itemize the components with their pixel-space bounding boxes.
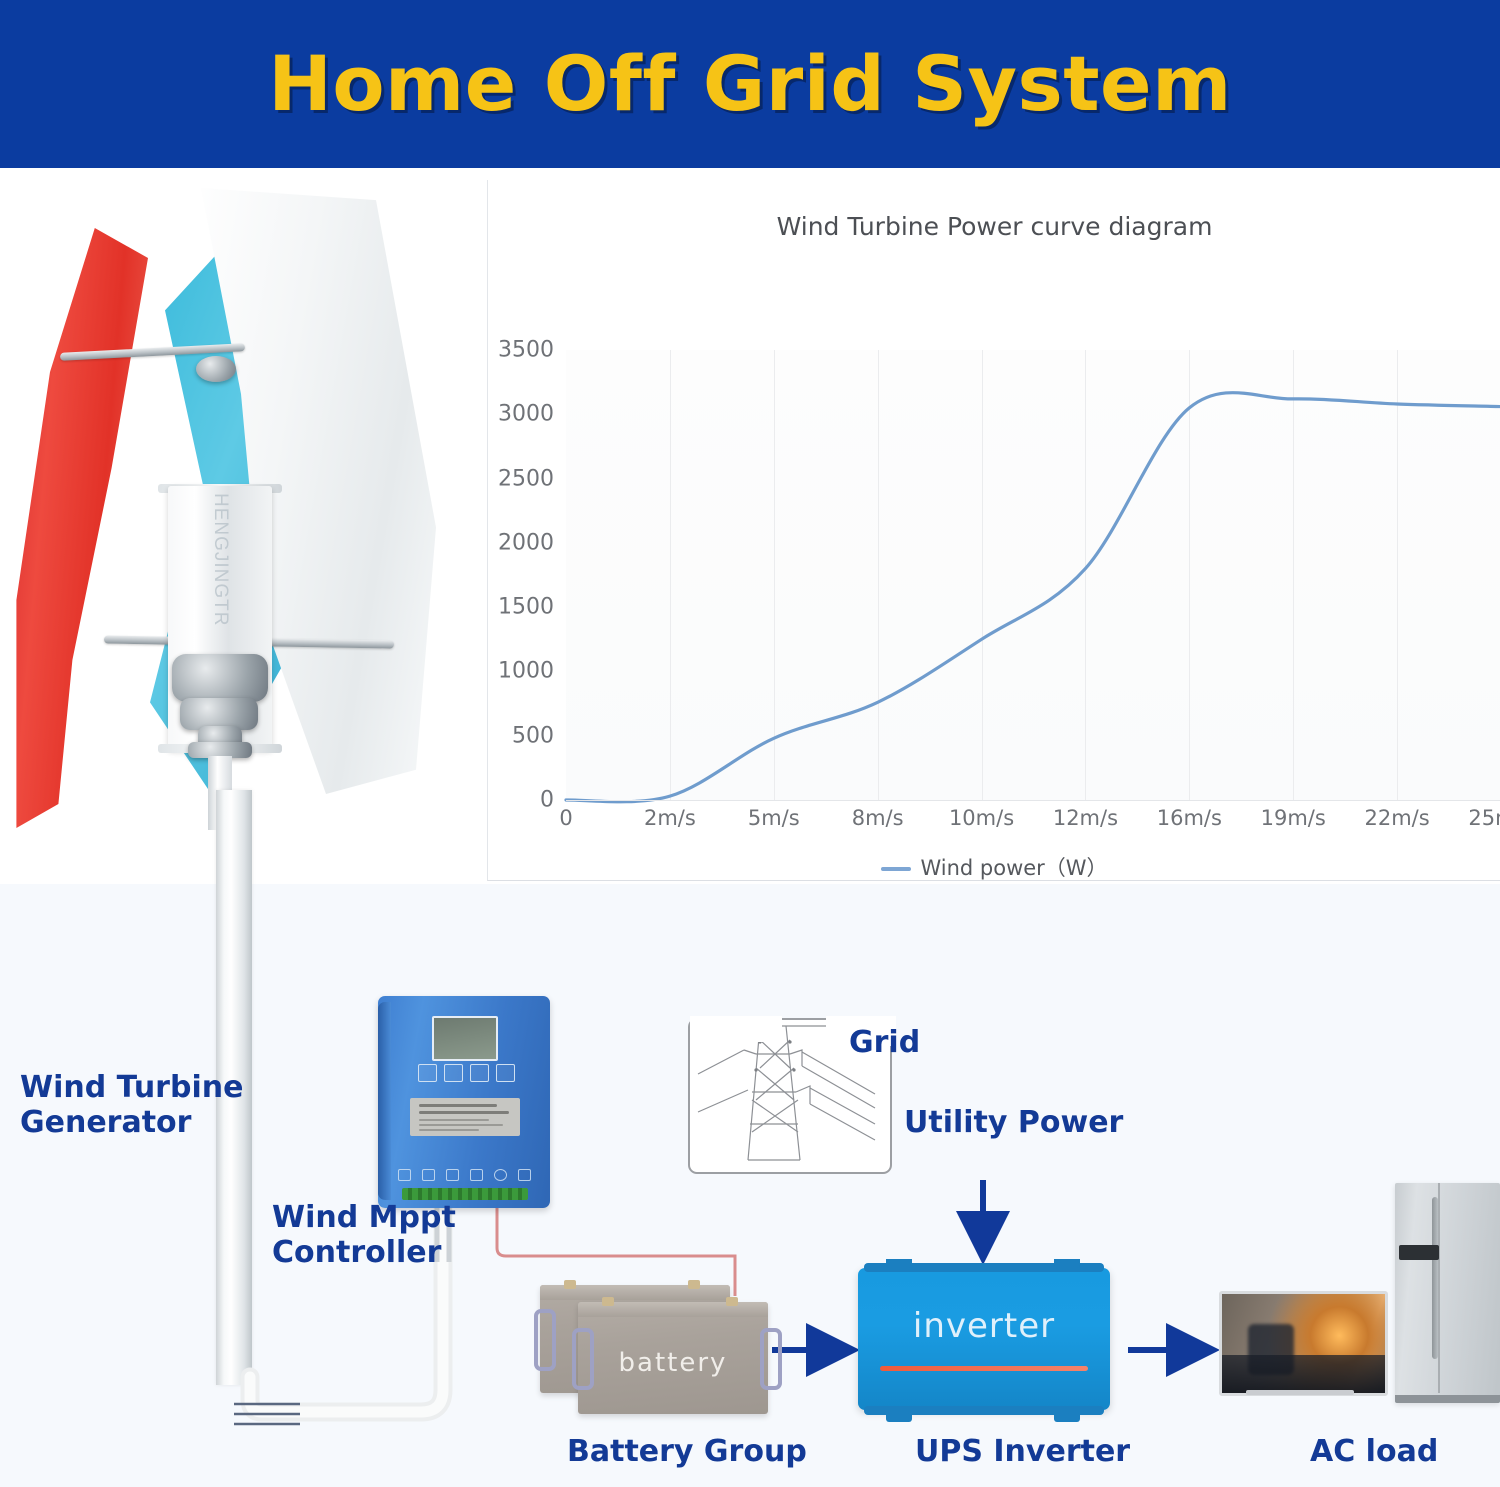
chart-y-tick: 3500 (498, 338, 554, 363)
inverter-foot-right (1054, 1413, 1080, 1422)
turbine-blade-red (8, 228, 148, 828)
controller-terminal-block (402, 1188, 528, 1200)
label-wind-mppt-controller: Wind Mppt Controller (272, 1200, 456, 1271)
turbine-top-hub (196, 356, 236, 382)
label-battery-group: Battery Group (567, 1434, 807, 1469)
label-utility-power: Utility Power (904, 1105, 1123, 1140)
refrigerator-ac-load (1395, 1183, 1500, 1403)
chart-x-tick: 8m/s (852, 806, 904, 830)
ups-inverter-device[interactable]: inverter (858, 1268, 1110, 1410)
chart-y-tick: 500 (512, 723, 554, 748)
label-ac-load: AC load (1310, 1434, 1438, 1469)
controller-lcd-display (432, 1016, 498, 1061)
generator-brand-text: HENGJINGTR (209, 493, 231, 597)
battery-front-terminal-pos (726, 1297, 738, 1306)
label-mppt-line2: Controller (272, 1235, 456, 1270)
inverter-top-tab-left (886, 1259, 912, 1268)
fridge-base (1395, 1395, 1500, 1403)
chart-y-tick: 0 (540, 788, 554, 813)
label-mppt-line1: Wind Mppt (272, 1200, 456, 1235)
chart-y-tick: 1500 (498, 595, 554, 620)
legend-label: Wind power（W） (920, 856, 1107, 880)
controller-button-1[interactable] (418, 1064, 437, 1082)
power-curve-chart: Wind Turbine Power curve diagram 0500100… (487, 180, 1500, 881)
chart-title: Wind Turbine Power curve diagram (488, 212, 1500, 241)
chart-y-tick: 1000 (498, 659, 554, 684)
chart-x-tick: 19m/s (1261, 806, 1326, 830)
chart-x-tick: 2m/s (644, 806, 696, 830)
controller-button-2[interactable] (444, 1064, 463, 1082)
grid-box-top-notch (690, 1016, 782, 1042)
controller-icon-row (398, 1169, 530, 1182)
chart-x-tick: 25m/s (1468, 806, 1500, 830)
battery-rear-terminal-pos (688, 1280, 700, 1289)
fridge-door-split (1438, 1183, 1440, 1393)
chart-x-tick: 0 (559, 806, 572, 830)
page-root: Home Off Grid System HENGJINGTR Wind Tur… (0, 0, 1500, 1487)
battery-label-text: battery (578, 1348, 768, 1378)
chart-x-tick: 10m/s (949, 806, 1014, 830)
inverter-accent-stripe (880, 1366, 1088, 1371)
chart-y-tick: 2500 (498, 466, 554, 491)
fridge-door-handle (1432, 1197, 1438, 1359)
chart-y-tick: 3000 (498, 402, 554, 427)
chart-x-axis-line (566, 800, 1500, 801)
fridge-display-panel (1399, 1245, 1439, 1260)
inverter-label-text: inverter (858, 1306, 1110, 1346)
inverter-foot-left (886, 1413, 912, 1422)
label-wtg-line1: Wind Turbine (20, 1070, 243, 1105)
title-banner: Home Off Grid System (0, 0, 1500, 168)
label-wind-turbine-generator: Wind Turbine Generator (20, 1070, 243, 1141)
turbine-bearing-assembly (172, 654, 268, 702)
chart-plot-area: 0500100015002000250030003500 (566, 350, 1500, 800)
label-ups-inverter: UPS Inverter (915, 1434, 1130, 1469)
chart-x-tick: 16m/s (1157, 806, 1222, 830)
battery-front: battery (578, 1302, 768, 1414)
controller-button-3[interactable] (470, 1064, 489, 1082)
inverter-top-tab-right (1054, 1259, 1080, 1268)
wind-turbine-image: HENGJINGTR (0, 170, 470, 830)
page-title: Home Off Grid System (0, 38, 1500, 130)
tv-ac-load (1219, 1291, 1388, 1396)
controller-left-bevel (378, 1002, 391, 1200)
controller-button-4[interactable] (496, 1064, 515, 1082)
label-grid: Grid (849, 1025, 920, 1060)
wind-mppt-controller-device[interactable] (378, 996, 550, 1208)
chart-x-tick: 22m/s (1365, 806, 1430, 830)
battery-rear-terminal-neg (564, 1280, 576, 1289)
tv-stand (1246, 1390, 1354, 1395)
chart-x-tick: 5m/s (748, 806, 800, 830)
chart-legend: Wind power（W） (488, 852, 1500, 882)
tv-screen-lower-band (1222, 1355, 1385, 1393)
battery-rear-handle (534, 1309, 556, 1371)
label-wtg-line2: Generator (20, 1105, 243, 1140)
battery-front-terminal-neg (602, 1297, 614, 1306)
chart-line-series (566, 350, 1500, 800)
controller-spec-plate (410, 1098, 520, 1136)
chart-x-tick: 12m/s (1053, 806, 1118, 830)
chart-y-tick: 2000 (498, 530, 554, 555)
legend-line-swatch (881, 867, 911, 871)
